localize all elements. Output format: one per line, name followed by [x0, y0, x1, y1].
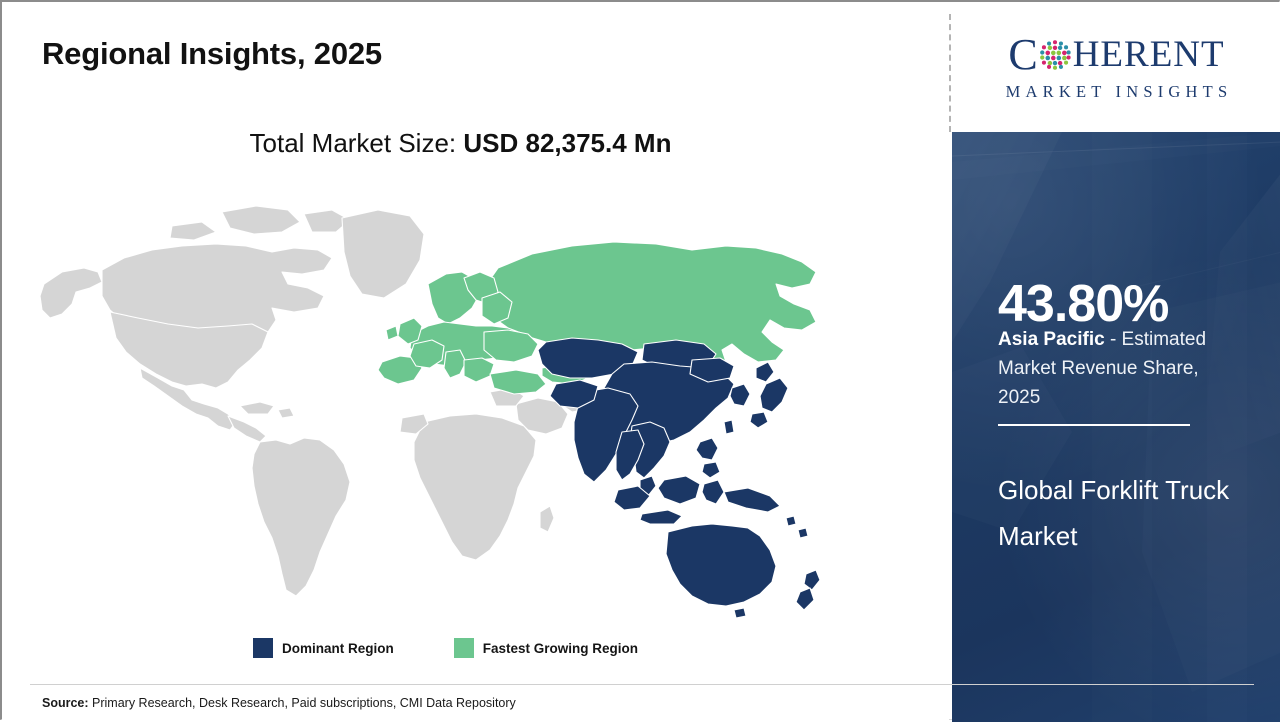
- panel-divider-rule: [998, 424, 1190, 426]
- world-map-svg: [32, 192, 832, 622]
- legend-label-fastest-growing: Fastest Growing Region: [483, 641, 638, 656]
- panel-background-texture: [952, 132, 1280, 722]
- world-map: [32, 192, 832, 622]
- market-name: Global Forklift Truck Market: [998, 468, 1248, 559]
- left-panel: Regional Insights, 2025 Total Market Siz…: [2, 2, 949, 720]
- company-logo: C: [951, 2, 1280, 132]
- source-text: Primary Research, Desk Research, Paid su…: [89, 696, 516, 710]
- stat-percentage: 43.80%: [998, 278, 1168, 330]
- globe-dots-icon: [1038, 38, 1072, 72]
- legend-swatch-dominant: [253, 638, 273, 658]
- stat-description: Asia Pacific - Estimated Market Revenue …: [998, 326, 1238, 413]
- logo-letters-herent: HERENT: [1073, 36, 1225, 73]
- stat-region-name: Asia Pacific: [998, 329, 1105, 350]
- source-label: Source:: [42, 696, 89, 710]
- legend-swatch-fastest-growing: [454, 638, 474, 658]
- info-panel: 43.80% Asia Pacific - Estimated Market R…: [952, 132, 1280, 722]
- logo-wordmark: C: [1008, 33, 1224, 77]
- legend-item-dominant-region: Dominant Region: [253, 638, 394, 658]
- source-note: Source: Primary Research, Desk Research,…: [42, 696, 516, 710]
- total-market-size-label: Total Market Size:: [250, 128, 464, 158]
- map-region-dominant: [538, 338, 820, 618]
- total-market-size-value: USD 82,375.4 Mn: [463, 128, 671, 158]
- total-market-size: Total Market Size: USD 82,375.4 Mn: [2, 128, 949, 159]
- logo-tagline: MARKET INSIGHTS: [1001, 82, 1233, 102]
- page-title: Regional Insights, 2025: [42, 36, 382, 72]
- regional-insights-infographic: Regional Insights, 2025 Total Market Siz…: [0, 0, 1280, 720]
- logo-letter-c: C: [1008, 33, 1038, 77]
- map-legend: Dominant Region Fastest Growing Region: [2, 638, 949, 658]
- source-divider: [30, 684, 1254, 685]
- legend-item-fastest-growing-region: Fastest Growing Region: [454, 638, 638, 658]
- legend-label-dominant: Dominant Region: [282, 641, 394, 656]
